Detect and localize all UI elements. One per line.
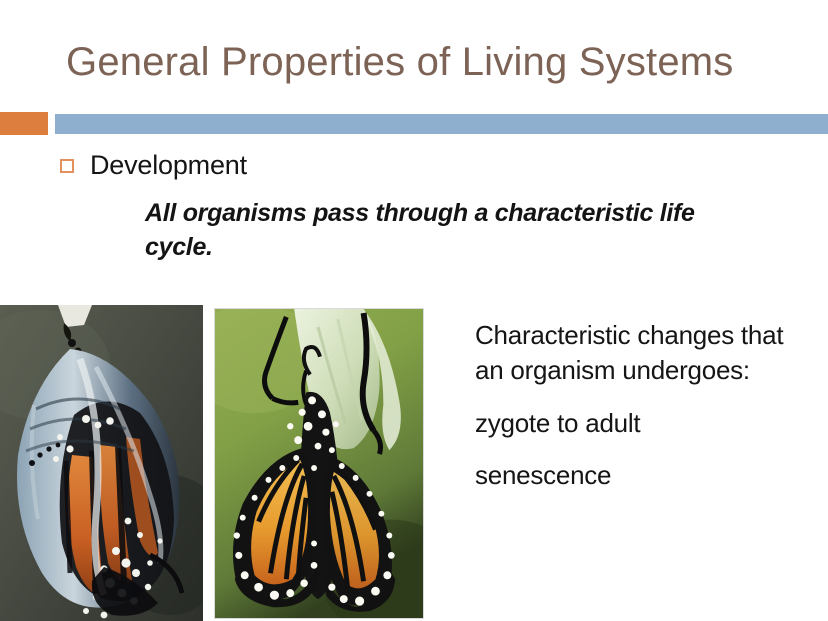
sub-text-life-cycle: All organisms pass through a characteris… bbox=[145, 196, 765, 264]
right-text-block: Characteristic changes that an organism … bbox=[475, 318, 805, 493]
bullet-item-label: Development bbox=[90, 148, 247, 183]
accent-bar-orange bbox=[0, 112, 48, 135]
page-title: General Properties of Living Systems bbox=[66, 40, 806, 85]
right-line-zygote: zygote to adult bbox=[475, 406, 805, 441]
square-bullet-icon bbox=[60, 159, 74, 173]
right-line-senescence: senescence bbox=[475, 458, 805, 493]
accent-bar-blue bbox=[55, 114, 828, 134]
chrysalis-illustration bbox=[0, 305, 203, 621]
butterfly-emerging-from-chrysalis-photo bbox=[0, 305, 203, 621]
slide-canvas: General Properties of Living Systems Dev… bbox=[0, 0, 828, 621]
right-paragraph: Characteristic changes that an organism … bbox=[475, 318, 805, 388]
monarch-butterfly-illustration bbox=[215, 309, 423, 618]
adult-monarch-butterfly-photo bbox=[214, 308, 424, 619]
bullet-item-development: Development bbox=[60, 148, 247, 183]
